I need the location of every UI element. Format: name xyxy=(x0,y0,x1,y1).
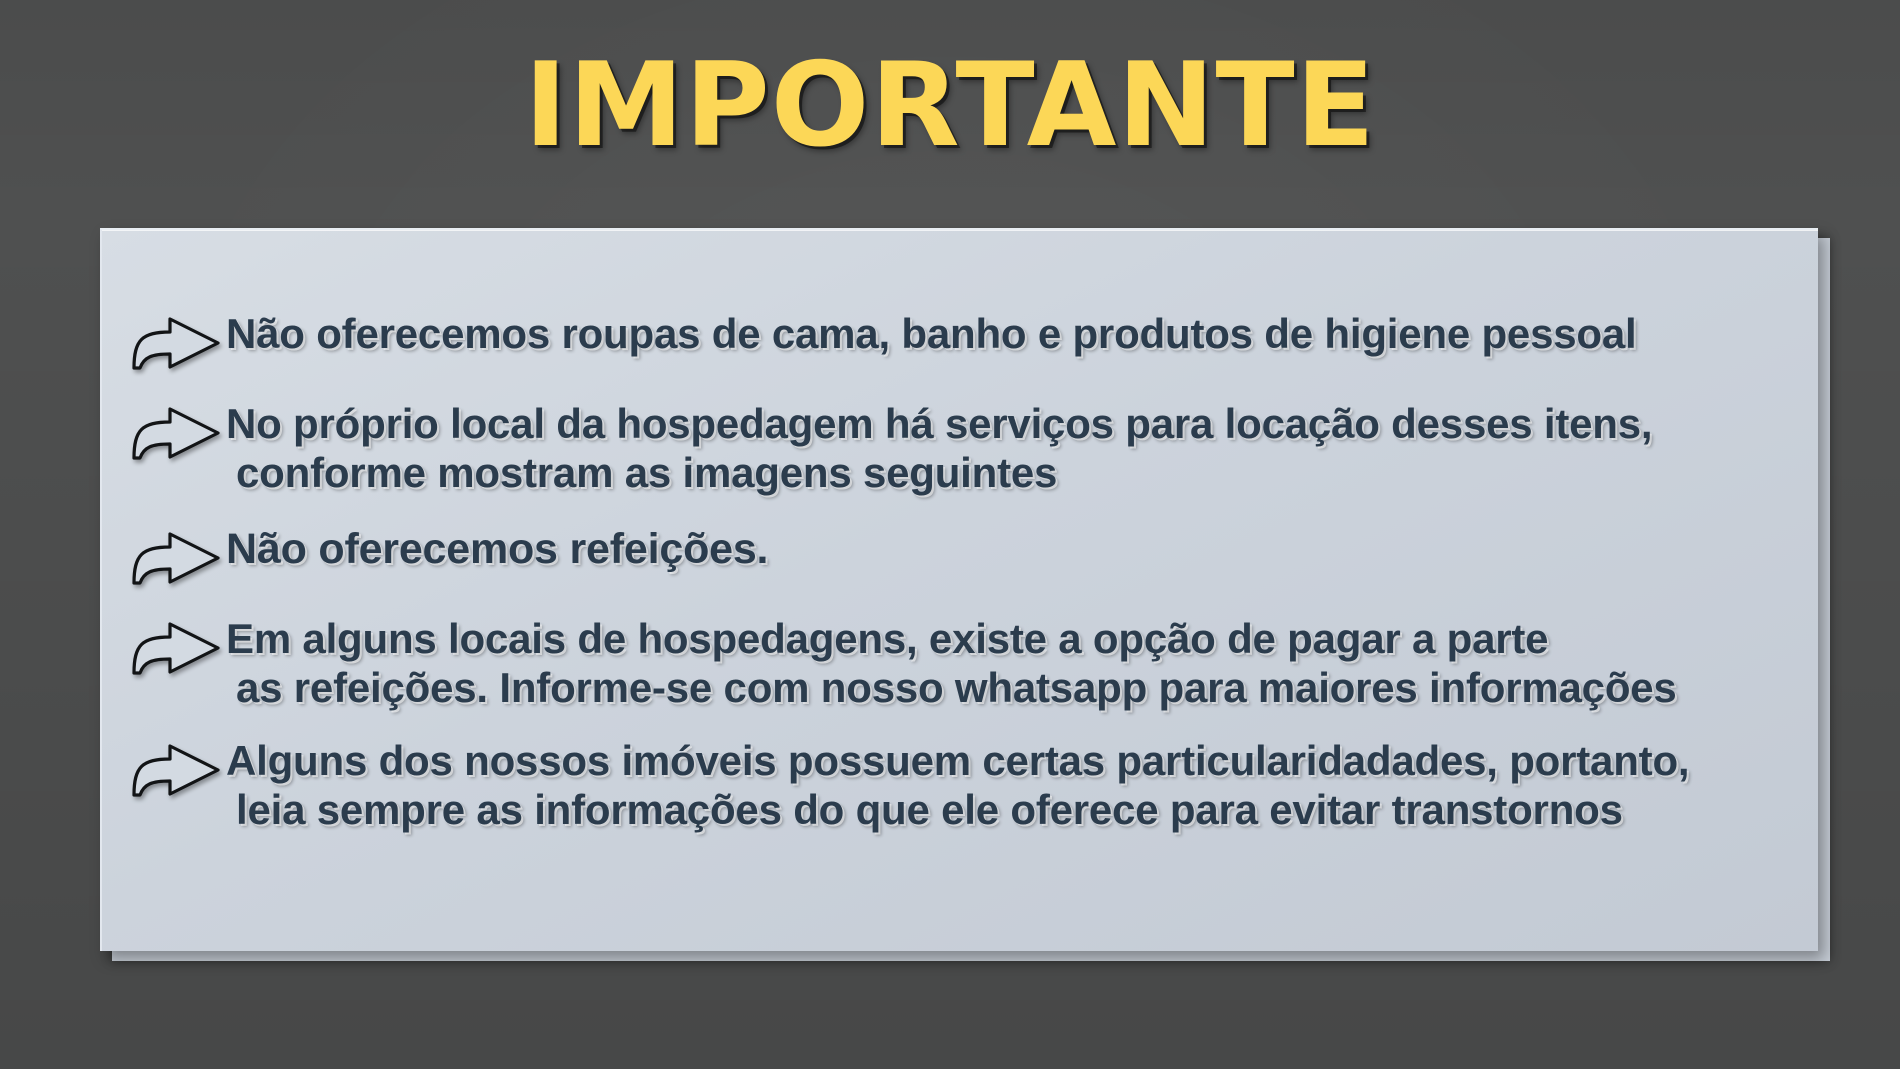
list-item-text: Em alguns locais de hospedagens, existe … xyxy=(226,613,1677,712)
list-item-text: Não oferecemos refeições. xyxy=(226,523,768,575)
list-item: Não oferecemos roupas de cama, banho e p… xyxy=(130,308,1794,372)
list-item: Em alguns locais de hospedagens, existe … xyxy=(130,613,1794,712)
block-arrow-right-icon xyxy=(130,741,222,799)
page-title: IMPORTANTE xyxy=(524,48,1376,164)
list-item-text: Não oferecemos roupas de cama, banho e p… xyxy=(226,308,1637,359)
list-item: Não oferecemos refeições. xyxy=(130,523,1794,587)
list-item-line-2: as refeições. Informe-se com nosso whats… xyxy=(226,664,1677,713)
list-item-text: No próprio local da hospedagem há serviç… xyxy=(226,398,1652,497)
list-item-text: Alguns dos nossos imóveis possuem certas… xyxy=(226,735,1689,834)
block-arrow-right-icon xyxy=(130,529,222,587)
page-title-container: IMPORTANTE xyxy=(0,48,1900,164)
list-item: No próprio local da hospedagem há serviç… xyxy=(130,398,1794,497)
list-item-line-2: leia sempre as informações do que ele of… xyxy=(226,786,1689,835)
list-item-line-1: Não oferecemos roupas de cama, banho e p… xyxy=(226,310,1637,357)
content-panel: Não oferecemos roupas de cama, banho e p… xyxy=(100,228,1818,951)
bullet-list: Não oferecemos roupas de cama, banho e p… xyxy=(130,308,1794,856)
list-item-line-1: Em alguns locais de hospedagens, existe … xyxy=(226,615,1548,662)
list-item-line-1: Não oferecemos refeições. xyxy=(226,525,768,573)
list-item-line-1: No próprio local da hospedagem há serviç… xyxy=(226,400,1652,447)
block-arrow-right-icon xyxy=(130,619,222,677)
list-item-line-1: Alguns dos nossos imóveis possuem certas… xyxy=(226,737,1689,784)
slide-canvas: IMPORTANTE Não oferecemos roupas de cama… xyxy=(0,0,1900,1069)
block-arrow-right-icon xyxy=(130,314,222,372)
list-item: Alguns dos nossos imóveis possuem certas… xyxy=(130,735,1794,834)
block-arrow-right-icon xyxy=(130,404,222,462)
list-item-line-2: conforme mostram as imagens seguintes xyxy=(226,449,1652,498)
